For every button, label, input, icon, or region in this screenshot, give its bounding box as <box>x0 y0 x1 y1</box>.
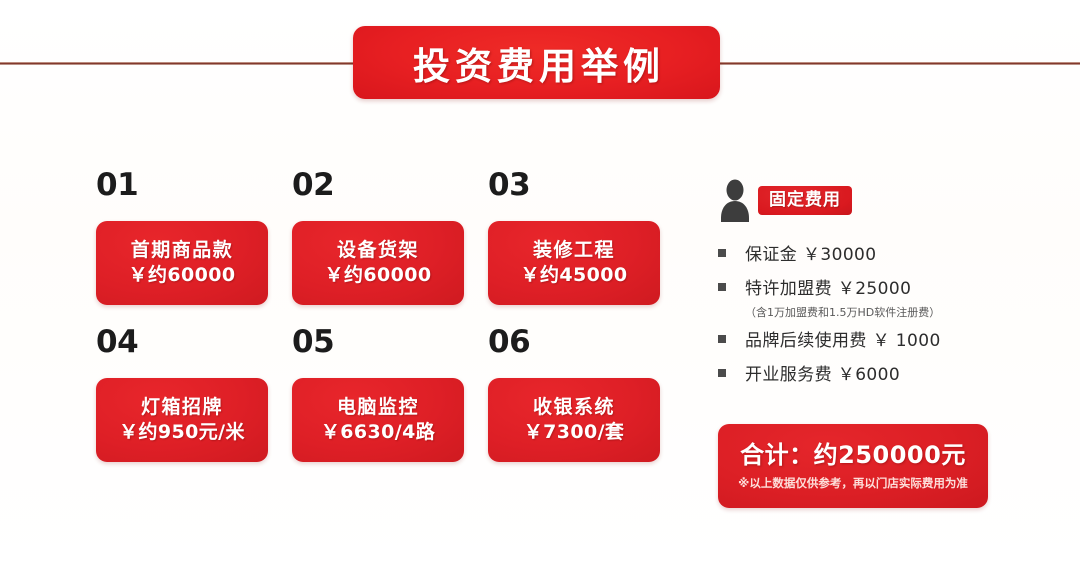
total-cost-disclaimer: ※以上数据仅供参考，再以门店实际费用为准 <box>738 477 968 490</box>
cost-item-price: ￥约950元/米 <box>119 422 245 443</box>
cost-item-01[interactable]: 01 首期商品款 ￥约60000 <box>96 168 268 305</box>
cost-item-card[interactable]: 装修工程 ￥约45000 <box>488 221 660 305</box>
cost-item-title: 电脑监控 <box>337 397 419 417</box>
bullet-square-icon <box>718 249 726 257</box>
bullet-square-icon <box>718 369 726 377</box>
list-item: 保证金 ￥30000 <box>718 246 1006 265</box>
cost-item-number: 05 <box>292 325 464 359</box>
list-item: 品牌后续使用费 ￥ 1000 <box>718 332 1006 351</box>
fixed-fees-header: 固定费用 <box>718 176 1006 224</box>
cost-item-price: ￥6630/4路 <box>321 422 435 443</box>
cost-item-number: 06 <box>488 325 660 359</box>
person-silhouette-icon <box>718 178 752 222</box>
page-title: 投资费用举例 <box>408 36 665 90</box>
list-item: 开业服务费 ￥6000 <box>718 366 1006 385</box>
cost-item-06[interactable]: 06 收银系统 ￥7300/套 <box>488 325 660 462</box>
cost-item-title: 装修工程 <box>533 240 615 260</box>
cost-items-grid: 01 首期商品款 ￥约60000 02 设备货架 ￥约60000 03 装修工程… <box>96 168 662 462</box>
cost-item-title: 首期商品款 <box>131 240 234 260</box>
cost-item-title: 设备货架 <box>337 240 419 260</box>
fixed-fees-panel: 固定费用 保证金 ￥30000 特许加盟费 ￥25000 （含1万加盟费和1.5… <box>718 176 1006 400</box>
total-cost-card: 合计：约250000元 ※以上数据仅供参考，再以门店实际费用为准 <box>718 424 988 508</box>
cost-item-05[interactable]: 05 电脑监控 ￥6630/4路 <box>292 325 464 462</box>
cost-item-price: ￥约60000 <box>129 265 236 286</box>
fixed-fees-tag: 固定费用 <box>758 186 852 215</box>
cost-item-title: 收银系统 <box>533 397 615 417</box>
cost-item-price: ￥约60000 <box>325 265 432 286</box>
cost-item-card[interactable]: 首期商品款 ￥约60000 <box>96 221 268 305</box>
total-cost-label: 合计：约250000元 <box>740 442 966 468</box>
investment-cost-poster: 投资费用举例 01 首期商品款 ￥约60000 02 设备货架 ￥约60000 … <box>0 0 1080 570</box>
bullet-square-icon <box>718 283 726 291</box>
cost-item-card[interactable]: 收银系统 ￥7300/套 <box>488 378 660 462</box>
list-item-label: 特许加盟费 ￥25000 <box>745 280 911 299</box>
list-item-label: 开业服务费 ￥6000 <box>745 366 900 385</box>
cost-items-row-2: 04 灯箱招牌 ￥约950元/米 05 电脑监控 ￥6630/4路 06 收银系… <box>96 325 662 462</box>
cost-item-04[interactable]: 04 灯箱招牌 ￥约950元/米 <box>96 325 268 462</box>
cost-item-title: 灯箱招牌 <box>141 397 223 417</box>
fixed-fees-list: 保证金 ￥30000 特许加盟费 ￥25000 （含1万加盟费和1.5万HD软件… <box>718 246 1006 385</box>
cost-item-price: ￥约45000 <box>521 265 628 286</box>
cost-items-row-1: 01 首期商品款 ￥约60000 02 设备货架 ￥约60000 03 装修工程… <box>96 168 662 305</box>
cost-item-number: 03 <box>488 168 660 202</box>
cost-item-card[interactable]: 灯箱招牌 ￥约950元/米 <box>96 378 268 462</box>
cost-item-02[interactable]: 02 设备货架 ￥约60000 <box>292 168 464 305</box>
title-banner: 投资费用举例 <box>353 26 720 99</box>
cost-item-number: 04 <box>96 325 268 359</box>
cost-item-number: 02 <box>292 168 464 202</box>
cost-item-number: 01 <box>96 168 268 202</box>
bullet-square-icon <box>718 335 726 343</box>
list-item: 特许加盟费 ￥25000 <box>718 280 1006 299</box>
list-item-label: 保证金 ￥30000 <box>745 246 876 265</box>
cost-item-price: ￥7300/套 <box>524 422 625 443</box>
cost-item-03[interactable]: 03 装修工程 ￥约45000 <box>488 168 660 305</box>
list-item-subnote: （含1万加盟费和1.5万HD软件注册费） <box>745 306 1006 320</box>
cost-item-card[interactable]: 电脑监控 ￥6630/4路 <box>292 378 464 462</box>
list-item-label: 品牌后续使用费 ￥ 1000 <box>745 332 941 351</box>
cost-item-card[interactable]: 设备货架 ￥约60000 <box>292 221 464 305</box>
